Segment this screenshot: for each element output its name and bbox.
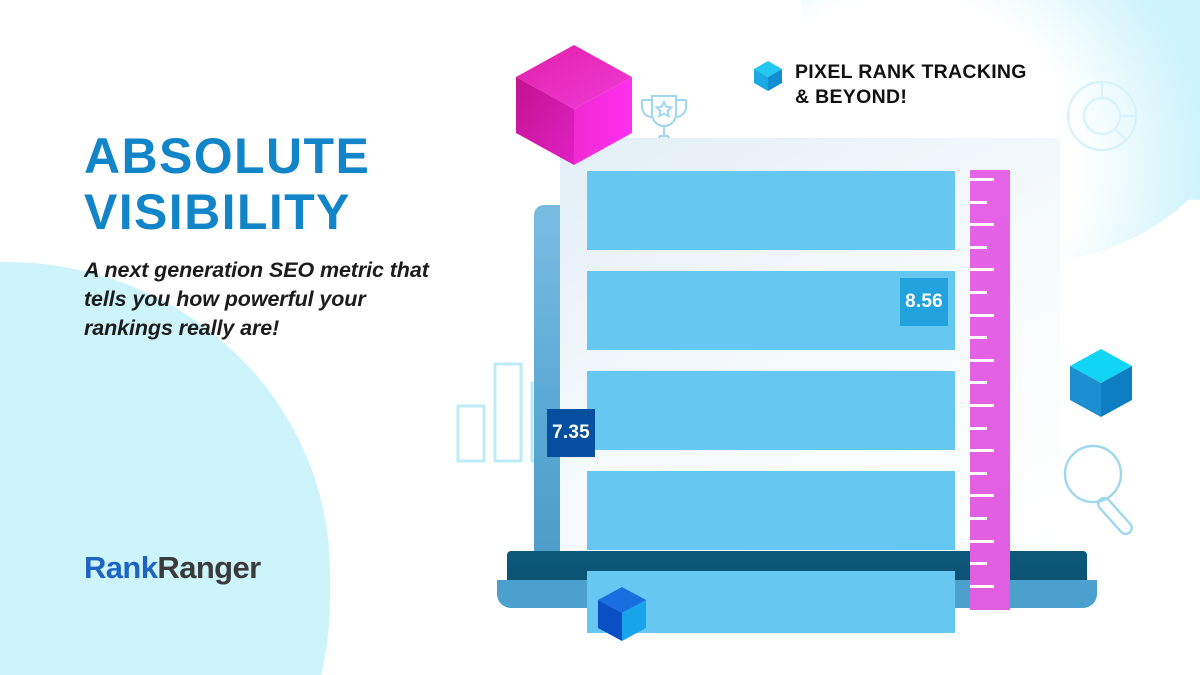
hero-subtitle: A next generation SEO metric that tells … [84,256,444,343]
ruler-tick [970,472,987,475]
ruler-tick [970,404,994,407]
brand-logo[interactable]: RankRanger [84,550,261,586]
headline-line-1: ABSOLUTE [84,128,464,184]
kicker-badge: PIXEL RANK TRACKING & BEYOND! [753,60,1027,110]
hero-copy: ABSOLUTE VISIBILITY A next generation SE… [84,128,464,343]
chart-bar [587,471,955,550]
kicker-text: PIXEL RANK TRACKING & BEYOND! [795,60,1027,110]
ruler-tick [970,336,987,339]
ruler-tick [970,381,987,384]
ruler-tick [970,178,994,181]
score-badge-high[interactable]: 8.56 [900,278,948,326]
ruler-tick [970,427,987,430]
score-badge-low-value: 7.35 [552,422,590,444]
poster-canvas: ABSOLUTE VISIBILITY A next generation SE… [0,0,1200,675]
score-badge-low[interactable]: 7.35 [547,409,595,457]
logo-text-ranger: Ranger [157,550,260,585]
page-title: ABSOLUTE VISIBILITY [84,128,464,240]
cube-icon-blue-small [596,586,648,642]
ruler-tick [970,517,987,520]
ruler-tick [970,314,994,317]
ruler-tick [970,540,994,543]
ruler-tick [970,268,994,271]
ruler-tick [970,291,987,294]
ruler-tick [970,585,994,588]
ruler-tick [970,223,994,226]
ruler-tick [970,246,987,249]
ruler-tick [970,201,987,204]
headline-line-2: VISIBILITY [84,184,464,240]
ruler-tick [970,562,987,565]
ruler-tick [970,449,994,452]
logo-text-rank: Rank [84,550,157,585]
cube-icon-magenta [513,43,635,167]
score-badge-high-value: 8.56 [905,291,943,313]
ruler-tick [970,494,994,497]
cube-icon-cyan [1068,348,1134,418]
ruler-tick [970,359,994,362]
chart-bar [587,371,955,450]
cube-icon [753,60,783,92]
bar-chart [587,171,955,654]
chart-bar [587,171,955,250]
pixel-ruler [970,170,1010,610]
